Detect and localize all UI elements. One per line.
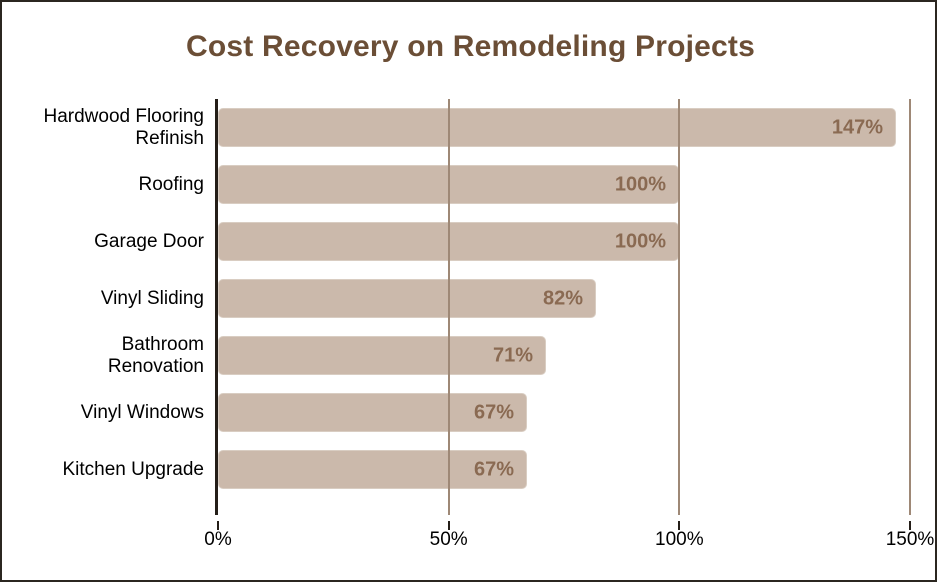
category-label: Garage Door	[2, 213, 208, 270]
bar-value-label: 67%	[474, 458, 514, 481]
bar-row: 82%	[218, 270, 910, 327]
category-label-line: Bathroom	[122, 334, 204, 356]
bar-row: 71%	[218, 327, 910, 384]
category-label: Kitchen Upgrade	[2, 441, 208, 498]
bar-value-label: 71%	[493, 344, 533, 367]
category-label: Vinyl Sliding	[2, 270, 208, 327]
bar-value-label: 82%	[543, 287, 583, 310]
bar-value-label: 100%	[615, 230, 666, 253]
category-label-line: Vinyl Sliding	[101, 288, 204, 310]
x-tick-label: 50%	[430, 529, 468, 551]
category-label: Roofing	[2, 156, 208, 213]
x-axis-labels: 0%50%100%150%	[2, 521, 937, 561]
category-label-line: Kitchen Upgrade	[62, 459, 204, 481]
bar[interactable]: 82%	[218, 279, 596, 318]
category-label-line: Vinyl Windows	[81, 402, 204, 424]
category-label-line: Roofing	[139, 174, 205, 196]
category-label-line: Hardwood Flooring	[43, 106, 204, 128]
bar[interactable]: 67%	[218, 393, 527, 432]
category-label-line: Garage Door	[94, 231, 204, 253]
bar[interactable]: 67%	[218, 450, 527, 489]
bar-row: 67%	[218, 384, 910, 441]
bar-row: 67%	[218, 441, 910, 498]
category-label: BathroomRenovation	[2, 327, 208, 384]
bar[interactable]: 71%	[218, 336, 546, 375]
y-axis-line	[215, 99, 218, 515]
category-label-line: Refinish	[135, 128, 204, 150]
category-label: Hardwood FlooringRefinish	[2, 99, 208, 156]
bar-row: 100%	[218, 213, 910, 270]
bar-row: 100%	[218, 156, 910, 213]
x-tick-label: 0%	[204, 529, 231, 551]
bar-value-label: 100%	[615, 173, 666, 196]
category-axis-labels: Hardwood FlooringRefinishRoofingGarage D…	[2, 99, 208, 515]
chart-title: Cost Recovery on Remodeling Projects	[2, 30, 937, 64]
bar[interactable]: 147%	[218, 108, 896, 147]
category-label-line: Renovation	[108, 356, 204, 378]
gridline-100pct	[678, 99, 680, 515]
category-label: Vinyl Windows	[2, 384, 208, 441]
gridline-150pct	[909, 99, 911, 515]
gridline-50pct	[448, 99, 450, 515]
bar-row: 147%	[218, 99, 910, 156]
bar-value-label: 147%	[832, 116, 883, 139]
bar-value-label: 67%	[474, 401, 514, 424]
x-tick-label: 100%	[655, 529, 704, 551]
x-tick-label: 150%	[886, 529, 935, 551]
plot-area: 147%100%100%82%71%67%67%	[218, 99, 910, 515]
chart-container: Cost Recovery on Remodeling Projects Har…	[0, 0, 937, 582]
